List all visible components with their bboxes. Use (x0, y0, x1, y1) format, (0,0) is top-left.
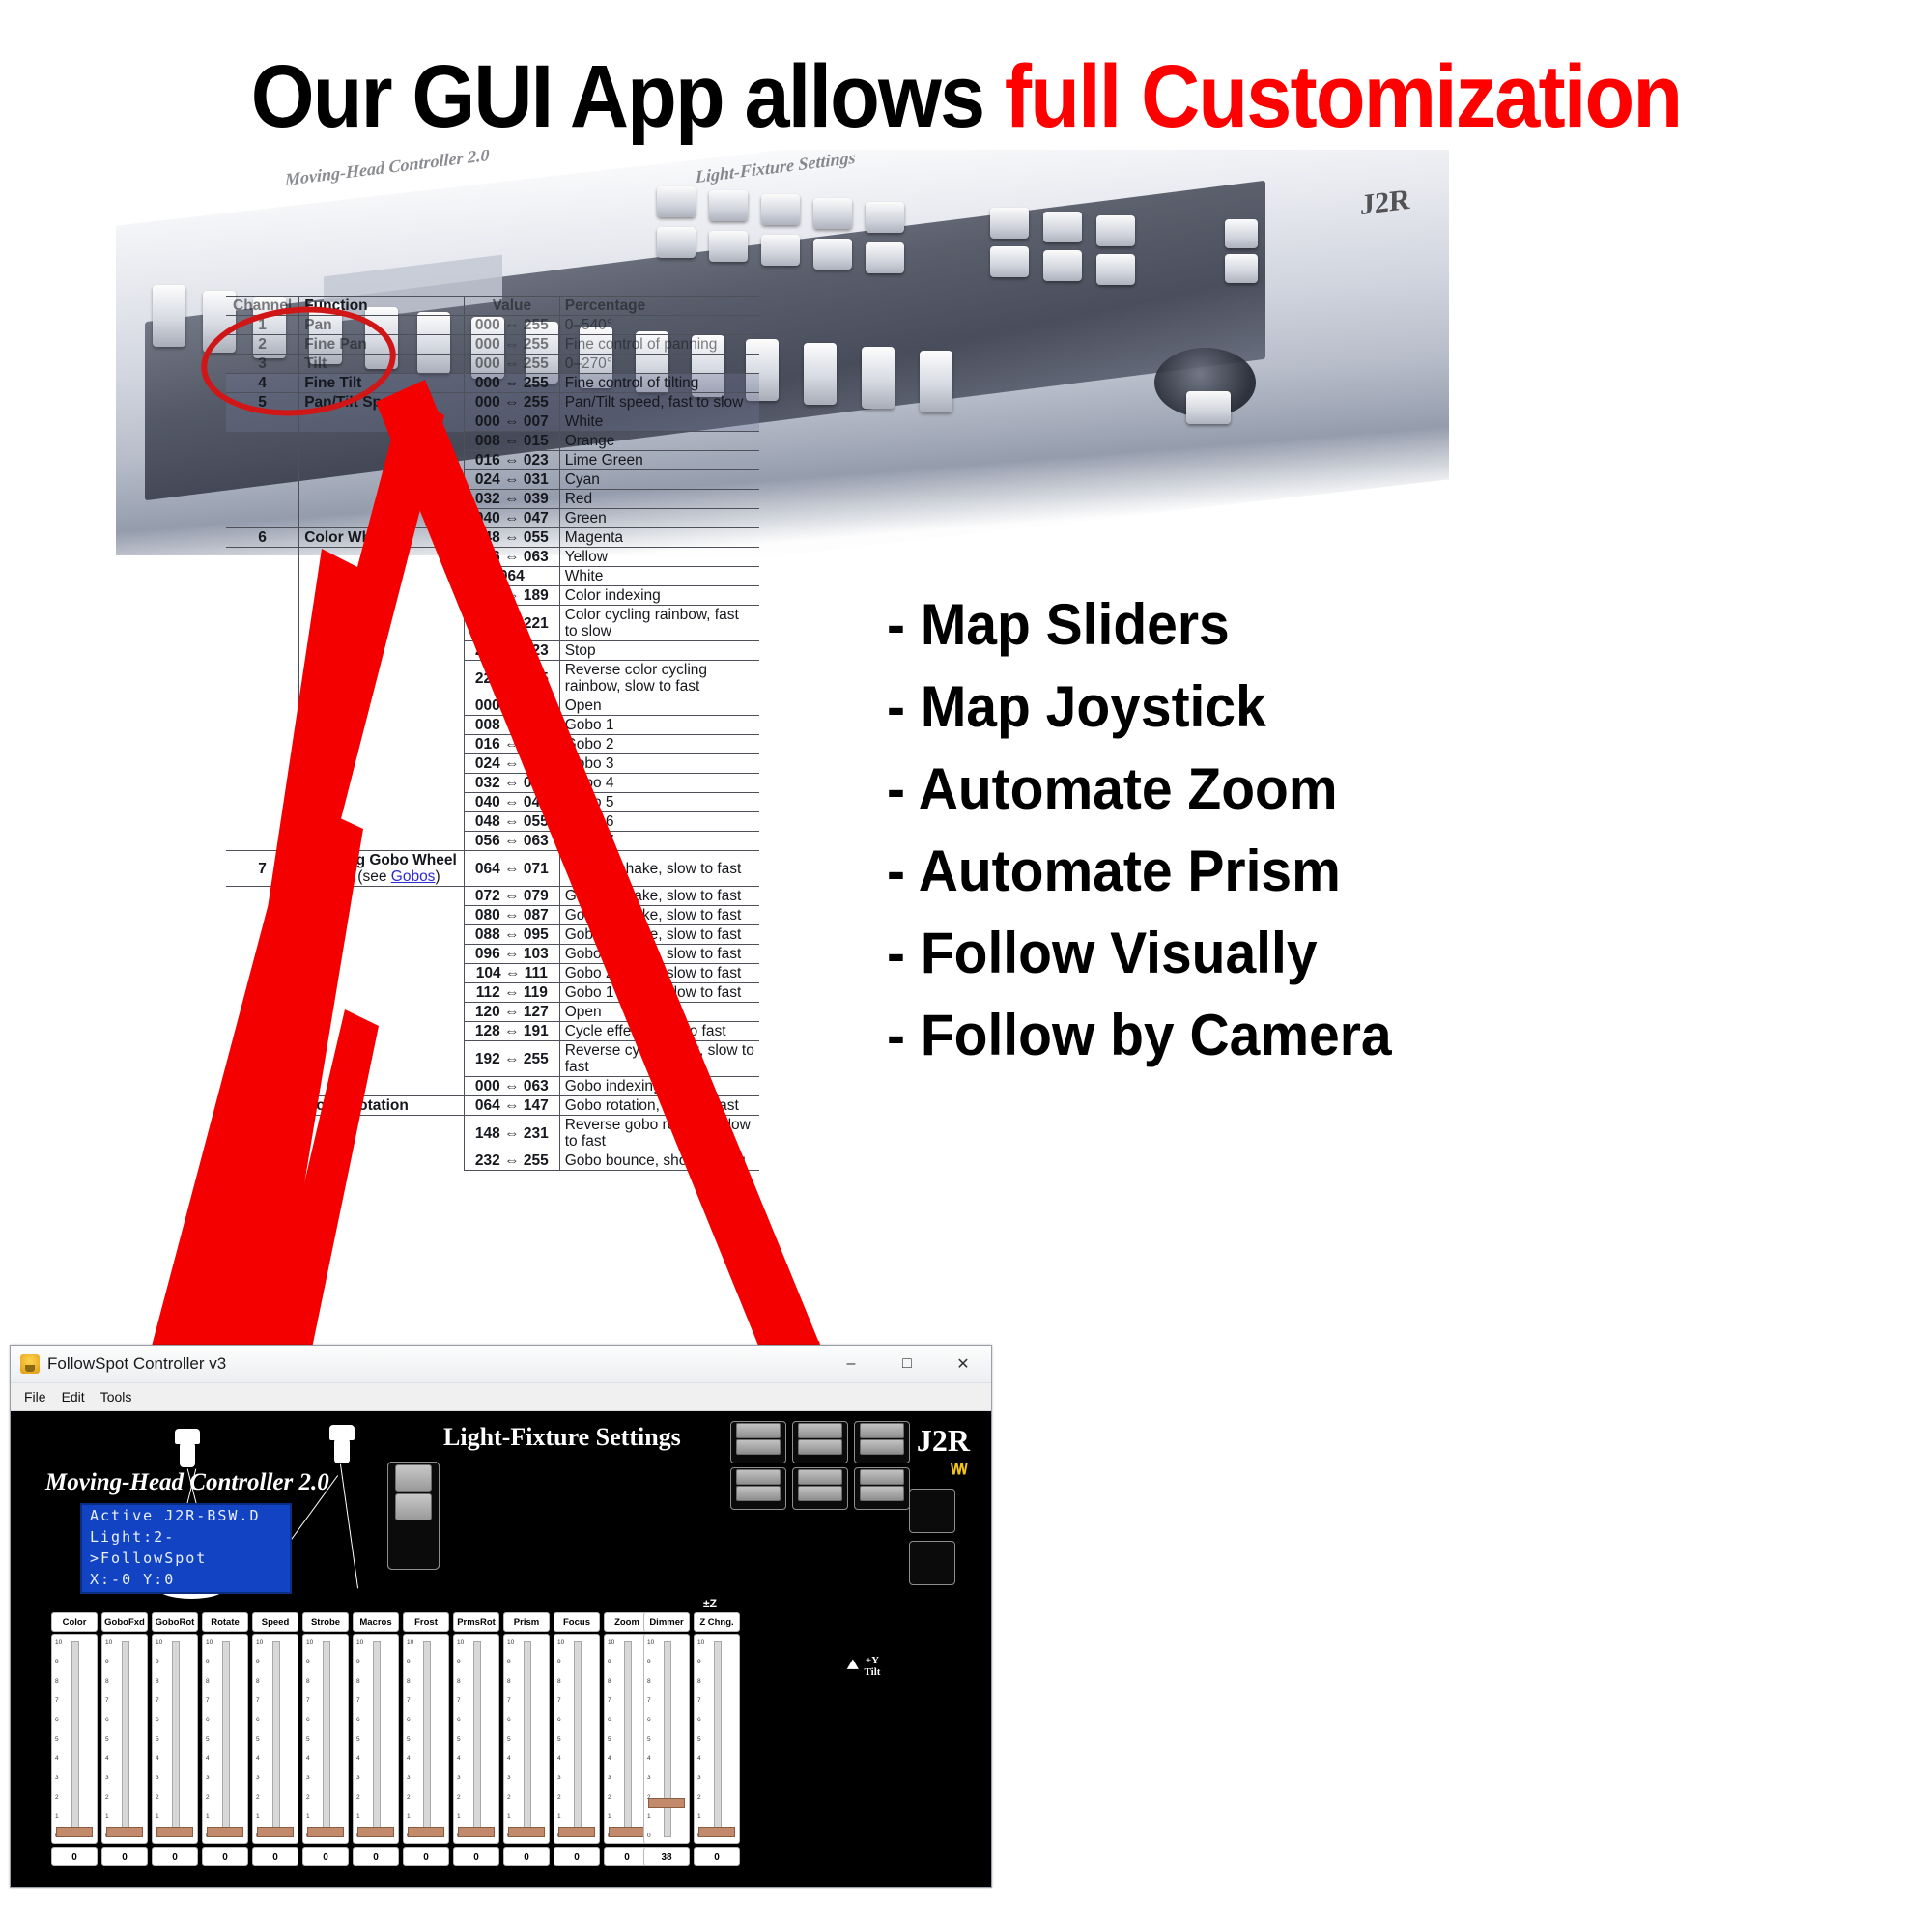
joystick-label-up: +YTilt (853, 1655, 892, 1678)
slider-track[interactable]: 109876543210 (302, 1634, 349, 1844)
cell-function (299, 412, 465, 432)
table-row: 096 ⇔ 103Gobo 3 shake, slow to fast (226, 945, 759, 964)
cell-value: 040 ⇔ 047 (465, 793, 560, 812)
table-row: 000 ⇔ 063Gobo indexing (226, 1077, 759, 1096)
slider-macros[interactable]: Macros1098765432100 (353, 1612, 399, 1866)
show-card-5[interactable] (792, 1467, 848, 1510)
cell-value: 016 ⇔ 023 (465, 451, 560, 470)
cell-value: 024 ⇔ 031 (465, 754, 560, 774)
cell-channel (226, 1116, 299, 1151)
cell-channel (226, 696, 299, 716)
table-row: 056 ⇔ 063Yellow (226, 548, 759, 567)
cell-channel (226, 945, 299, 964)
cell-value: 222 ⇔ 223 (465, 641, 560, 661)
cell-percentage: Gobo 3 (559, 754, 759, 774)
cell-percentage: Gobo 6 shake, slow to fast (559, 887, 759, 906)
aux-cards[interactable] (909, 1489, 955, 1585)
cell-value: 148 ⇔ 231 (465, 1116, 560, 1151)
slider-track[interactable]: 109876543210 (51, 1634, 98, 1844)
dmx-channel-table: ChannelFunctionValuePercentage1Pan000 ⇔ … (226, 296, 759, 1171)
cell-function (299, 451, 465, 470)
slider-label: Dimmer (643, 1612, 690, 1632)
dimmer-slider-z-chng-[interactable]: Z Chng.1098765432100 (694, 1612, 740, 1866)
slider-rail (122, 1641, 129, 1837)
slider-value: 0 (152, 1847, 198, 1866)
cell-channel (226, 509, 299, 528)
cell-percentage: Gobo bounce, short to long (559, 1151, 759, 1171)
cell-percentage: Cyan (559, 470, 759, 490)
slider-value: 0 (51, 1847, 98, 1866)
stage-title: Moving-Head Controller 2.0 (45, 1469, 329, 1496)
slider-track[interactable]: 109876543210 (453, 1634, 499, 1844)
cell-percentage: Yellow (559, 548, 759, 567)
cell-value: 048 ⇔ 055 (465, 528, 560, 548)
table-row: 222 ⇔ 223Stop (226, 641, 759, 661)
cell-percentage: Reverse cycle effect, slow to fast (559, 1041, 759, 1077)
cell-channel (226, 983, 299, 1003)
show-card-count[interactable] (798, 1439, 842, 1455)
lcd-line-1: Active J2R-BSW.D (82, 1505, 290, 1526)
slider-label: Strobe (302, 1612, 349, 1632)
table-row: 048 ⇔ 055Gobo 6 (226, 812, 759, 832)
cell-channel (226, 887, 299, 906)
slider-track[interactable]: 109876543210 (101, 1634, 148, 1844)
cell-percentage: Fine control of tilting (559, 374, 759, 393)
cell-function (299, 470, 465, 490)
slider-value: 0 (453, 1847, 499, 1866)
slider-track[interactable]: 109876543210 (643, 1634, 690, 1844)
moving-head-body-2 (334, 1438, 350, 1463)
slider-value: 0 (202, 1847, 248, 1866)
slider-value: 0 (554, 1847, 600, 1866)
slider-value: 38 (643, 1847, 690, 1866)
cell-function (299, 661, 465, 696)
cell-percentage: Gobo 2 shake, slow to fast (559, 964, 759, 983)
cell-value: 064 ⇔ 071 (465, 851, 560, 887)
cell-function (299, 548, 465, 567)
gobos-link[interactable]: Gobos (391, 868, 436, 885)
cell-value: 040 ⇔ 047 (465, 509, 560, 528)
cell-percentage: Pan/Tilt speed, fast to slow (559, 393, 759, 412)
cell-value: 000 ⇔ 255 (465, 355, 560, 374)
slider-knob[interactable] (106, 1827, 143, 1837)
slider-ticks: 109876543210 (507, 1639, 519, 1839)
slider-rail (172, 1641, 180, 1837)
cell-channel (226, 1022, 299, 1041)
show-card-count[interactable] (860, 1486, 904, 1501)
slider-rail (272, 1641, 280, 1837)
menu-item-tools[interactable]: Tools (100, 1389, 132, 1405)
cell-value: 120 ⇔ 127 (465, 1003, 560, 1022)
cell-percentage: Green (559, 509, 759, 528)
cell-function (299, 735, 465, 754)
slider-rail (574, 1641, 582, 1837)
slider-rail (624, 1641, 632, 1837)
slider-gobofxd[interactable]: GoboFxd1098765432100 (101, 1612, 148, 1866)
cell-channel (226, 1041, 299, 1077)
cell-value: 016 ⇔ 023 (465, 735, 560, 754)
show-card-state-button[interactable] (860, 1423, 904, 1438)
page-title-red: full Customization (1005, 47, 1681, 146)
cell-value: 000 ⇔ 255 (465, 374, 560, 393)
minimize-button[interactable]: – (823, 1346, 879, 1382)
cell-percentage: Reverse color cycling rainbow, slow to f… (559, 661, 759, 696)
feature-bullet-4: - Follow Visually (887, 912, 1529, 994)
light-card-select-button[interactable] (395, 1493, 432, 1520)
show-card-1[interactable] (730, 1421, 786, 1463)
cell-value: 192 ⇔ 255 (465, 1041, 560, 1077)
feature-bullet-0: - Map Sliders (887, 583, 1529, 666)
slider-speed[interactable]: Speed1098765432100 (252, 1612, 298, 1866)
cell-channel (226, 1077, 299, 1096)
cell-percentage: Gobo 5 shake, slow to fast (559, 906, 759, 925)
cell-function (299, 606, 465, 641)
table-row: 024 ⇔ 031Gobo 3 (226, 754, 759, 774)
cell-value: 000 ⇔ 255 (465, 316, 560, 335)
cell-function (299, 812, 465, 832)
slider-knob[interactable] (458, 1827, 495, 1837)
slider-rail (473, 1641, 481, 1837)
cell-percentage: Lime Green (559, 451, 759, 470)
cell-value: 008 ⇔ 015 (465, 716, 560, 735)
app-icon (20, 1354, 40, 1374)
cell-value: 190 ⇔ 221 (465, 606, 560, 641)
col-header-value: Value (465, 297, 560, 316)
cell-channel (226, 716, 299, 735)
cell-function (299, 716, 465, 735)
slider-rail (423, 1641, 431, 1837)
slider-track[interactable]: 109876543210 (252, 1634, 298, 1844)
app-brand-logo: J2R (917, 1423, 970, 1459)
feature-bullet-5: - Follow by Camera (887, 994, 1529, 1076)
slider-color[interactable]: Color1098765432100 (51, 1612, 98, 1866)
cell-channel (226, 735, 299, 754)
cell-function (299, 793, 465, 812)
table-row: 008 ⇔ 015Gobo 1 (226, 716, 759, 735)
slider-prism[interactable]: Prism1098765432100 (503, 1612, 550, 1866)
slider-ticks: 109876543210 (356, 1639, 368, 1839)
show-card-count[interactable] (860, 1439, 904, 1455)
show-card-count[interactable] (736, 1486, 781, 1501)
cell-value: 088 ⇔ 095 (465, 925, 560, 945)
cell-channel (226, 641, 299, 661)
cell-percentage: Gobo 4 shake, slow to fast (559, 925, 759, 945)
slider-knob[interactable] (257, 1827, 294, 1837)
cell-percentage: Color indexing (559, 586, 759, 606)
slider-label: Prism (503, 1612, 550, 1632)
cell-channel (226, 567, 299, 586)
table-row: 040 ⇔ 047Gobo 5 (226, 793, 759, 812)
slider-ticks: 109876543210 (557, 1639, 569, 1839)
slider-prmsrot[interactable]: PrmsRot1098765432100 (453, 1612, 499, 1866)
cell-channel (226, 964, 299, 983)
lcd-line-2: Light:2->FollowSpot (82, 1526, 290, 1569)
cell-function (299, 754, 465, 774)
slider-knob[interactable] (648, 1798, 685, 1808)
slider-focus[interactable]: Focus1098765432100 (554, 1612, 600, 1866)
cell-function (299, 1003, 465, 1022)
show-card-state-button[interactable] (736, 1423, 781, 1438)
slider-rail (323, 1641, 330, 1837)
show-card-state-button[interactable] (798, 1423, 842, 1438)
cell-percentage: Color cycling rainbow, fast to slow (559, 606, 759, 641)
slider-ticks: 109876543210 (647, 1639, 659, 1839)
cell-value: 072 ⇔ 079 (465, 887, 560, 906)
slider-value: 0 (252, 1847, 298, 1866)
cell-value: 232 ⇔ 255 (465, 1151, 560, 1171)
show-card-2[interactable] (792, 1421, 848, 1463)
slider-knob[interactable] (609, 1827, 645, 1837)
slider-track[interactable]: 109876543210 (694, 1634, 740, 1844)
slider-label: Frost (403, 1612, 449, 1632)
slider-knob[interactable] (408, 1827, 444, 1837)
table-row: 232 ⇔ 255Gobo bounce, short to long (226, 1151, 759, 1171)
cell-function (299, 964, 465, 983)
cell-channel (226, 793, 299, 812)
slider-label: Speed (252, 1612, 298, 1632)
cell-channel (226, 586, 299, 606)
cell-value: 064 (465, 567, 560, 586)
cell-percentage: 0–270° (559, 355, 759, 374)
slider-track[interactable]: 109876543210 (503, 1634, 550, 1844)
slider-label: Z Chng. (694, 1612, 740, 1632)
table-row: 120 ⇔ 127Open (226, 1003, 759, 1022)
cell-value: 056 ⇔ 063 (465, 832, 560, 851)
table-row: 104 ⇔ 111Gobo 2 shake, slow to fast (226, 964, 759, 983)
cell-function (299, 490, 465, 509)
slider-strobe[interactable]: Strobe1098765432100 (302, 1612, 349, 1866)
cell-function (299, 641, 465, 661)
slider-track[interactable]: 109876543210 (403, 1634, 449, 1844)
close-button[interactable]: ✕ (935, 1346, 991, 1382)
slider-knob[interactable] (357, 1827, 394, 1837)
table-row: 6Color Wheel048 ⇔ 055Magenta (226, 528, 759, 548)
table-row: 192 ⇔ 255Reverse cycle effect, slow to f… (226, 1041, 759, 1077)
slider-label: Rotate (202, 1612, 248, 1632)
slider-value: 0 (694, 1847, 740, 1866)
table-row: 080 ⇔ 087Gobo 5 shake, slow to fast (226, 906, 759, 925)
cell-value: 032 ⇔ 039 (465, 774, 560, 793)
cell-percentage: Gobo 7 shake, slow to fast (559, 851, 759, 887)
table-row: 7Rotating Gobo Wheel(Gobo) (see Gobos)06… (226, 851, 759, 887)
cell-channel (226, 832, 299, 851)
cell-channel: 6 (226, 528, 299, 548)
cell-function (299, 832, 465, 851)
slider-knob[interactable] (207, 1827, 243, 1837)
light-card-power-button[interactable] (395, 1464, 432, 1492)
feature-bullet-2: - Automate Zoom (887, 748, 1529, 830)
cell-function (299, 945, 465, 964)
slider-ticks: 109876543210 (306, 1639, 318, 1839)
cell-channel (226, 754, 299, 774)
slider-knob[interactable] (508, 1827, 545, 1837)
cell-percentage: Open (559, 1003, 759, 1022)
slider-knob[interactable] (558, 1827, 595, 1837)
cell-channel (226, 606, 299, 641)
cell-function (299, 432, 465, 451)
show-card-state-button[interactable] (860, 1469, 904, 1485)
cell-function (299, 509, 465, 528)
table-row: 064White (226, 567, 759, 586)
show-card-count[interactable] (736, 1439, 781, 1455)
cell-percentage: 0–540° (559, 316, 759, 335)
maximize-button[interactable]: □ (879, 1346, 935, 1382)
cell-channel (226, 1151, 299, 1171)
cell-function (299, 983, 465, 1003)
slider-ticks: 109876543210 (457, 1639, 469, 1839)
slider-rail (71, 1641, 79, 1837)
table-row: 128 ⇔ 191Cycle effect, slow to fast (226, 1022, 759, 1041)
cell-function (299, 586, 465, 606)
table-row: 032 ⇔ 039Gobo 4 (226, 774, 759, 793)
table-row: 224 ⇔ 255Reverse color cycling rainbow, … (226, 661, 759, 696)
cell-value: 080 ⇔ 087 (465, 906, 560, 925)
cell-percentage: White (559, 412, 759, 432)
col-header-percentage: Percentage (559, 297, 759, 316)
table-row: 072 ⇔ 079Gobo 6 shake, slow to fast (226, 887, 759, 906)
cell-value: 104 ⇔ 111 (465, 964, 560, 983)
slider-knob[interactable] (156, 1827, 193, 1837)
cell-channel (226, 548, 299, 567)
cell-percentage: Gobo 4 (559, 774, 759, 793)
cell-channel (226, 774, 299, 793)
slider-track[interactable]: 109876543210 (152, 1634, 198, 1844)
cell-value: 064 ⇔ 147 (465, 1096, 560, 1116)
cell-channel (226, 906, 299, 925)
cell-value: 032 ⇔ 039 (465, 490, 560, 509)
aux-card-2[interactable] (909, 1541, 955, 1585)
table-row: 040 ⇔ 047Green (226, 509, 759, 528)
slider-frost[interactable]: Frost1098765432100 (403, 1612, 449, 1866)
cell-value: 024 ⇔ 031 (465, 470, 560, 490)
z-axis-label: ±Z (703, 1597, 717, 1610)
cell-function (299, 925, 465, 945)
brand-wave-icon: \/\/\/ (951, 1460, 966, 1479)
window-titlebar: FollowSpot Controller v3 – □ ✕ (11, 1346, 991, 1383)
slider-knob[interactable] (307, 1827, 344, 1837)
cell-value: 000 ⇔ 255 (465, 393, 560, 412)
cell-function (299, 1151, 465, 1171)
show-card-state-button[interactable] (736, 1469, 781, 1485)
feature-bullet-3: - Automate Prism (887, 830, 1529, 912)
cell-percentage: White (559, 567, 759, 586)
cell-percentage: Gobo 2 (559, 735, 759, 754)
menu-item-file[interactable]: File (24, 1389, 46, 1405)
photo-deck-label: Moving-Head Controller 2.0 (285, 150, 490, 190)
cell-value: 008 ⇔ 015 (465, 432, 560, 451)
table-row: 088 ⇔ 095Gobo 4 shake, slow to fast (226, 925, 759, 945)
cell-percentage: Gobo 1 (559, 716, 759, 735)
slider-rail (714, 1641, 722, 1837)
slider-value: 0 (503, 1847, 550, 1866)
photo-brand-logo: J2R (1360, 184, 1410, 222)
cell-value: 224 ⇔ 255 (465, 661, 560, 696)
cell-value: 128 ⇔ 191 (465, 1022, 560, 1041)
cell-percentage: Gobo 7 (559, 832, 759, 851)
slider-goborot[interactable]: GoboRot1098765432100 (152, 1612, 198, 1866)
cell-channel (226, 925, 299, 945)
table-row: 112 ⇔ 119Gobo 1 shake, slow to fast (226, 983, 759, 1003)
dimmer-slider-dimmer[interactable]: Dimmer10987654321038 (643, 1612, 690, 1866)
cell-channel (226, 1096, 299, 1116)
aux-card-1[interactable] (909, 1489, 955, 1533)
feature-bullet-1: - Map Joystick (887, 666, 1529, 748)
cell-percentage: Gobo 5 (559, 793, 759, 812)
cell-percentage: Open (559, 696, 759, 716)
show-card-6[interactable] (854, 1467, 910, 1510)
light-fixture-settings-title: Light-Fixture Settings (443, 1423, 681, 1452)
show-cards[interactable] (730, 1421, 912, 1510)
show-card-count[interactable] (798, 1486, 842, 1501)
slider-rotate[interactable]: Rotate1098765432100 (202, 1612, 248, 1866)
cell-percentage: Magenta (559, 528, 759, 548)
slider-bank[interactable]: Color1098765432100GoboFxd1098765432100Go… (51, 1612, 650, 1866)
show-card-state-button[interactable] (798, 1469, 842, 1485)
slider-rail (373, 1641, 381, 1837)
slider-label: PrmsRot (453, 1612, 499, 1632)
cell-percentage: Fine control of panning (559, 335, 759, 355)
light-beam-right-2 (340, 1464, 358, 1589)
slider-rail (222, 1641, 230, 1837)
light-fixture-card-6[interactable] (387, 1462, 440, 1570)
slider-value: 0 (353, 1847, 399, 1866)
cell-percentage: Orange (559, 432, 759, 451)
slider-knob[interactable] (56, 1827, 93, 1837)
cell-function (299, 696, 465, 716)
menu-item-edit[interactable]: Edit (62, 1389, 85, 1405)
slider-ticks: 109876543210 (407, 1639, 418, 1839)
cell-value: 000 ⇔ 007 (465, 696, 560, 716)
slider-label: Color (51, 1612, 98, 1632)
table-row: 024 ⇔ 031Cyan (226, 470, 759, 490)
lcd-line-4: X:-0 Y:0 (82, 1569, 290, 1590)
cell-function (299, 567, 465, 586)
cell-function: Gobo Rotation (299, 1096, 465, 1116)
slider-value: 0 (302, 1847, 349, 1866)
table-row: Gobo Rotation064 ⇔ 147Gobo rotation, slo… (226, 1096, 759, 1116)
followspot-controller-window[interactable]: FollowSpot Controller v3 – □ ✕ File Edit… (10, 1345, 992, 1888)
slider-ticks: 109876543210 (256, 1639, 268, 1839)
controller-canvas[interactable]: Moving-Head Controller 2.0 Active J2R-BS… (11, 1411, 991, 1887)
slider-label: Focus (554, 1612, 600, 1632)
slider-label: Macros (353, 1612, 399, 1632)
show-card-3[interactable] (854, 1421, 910, 1463)
cell-channel (226, 812, 299, 832)
cell-percentage: Red (559, 490, 759, 509)
table-row: 148 ⇔ 231Reverse gobo rotation, slow to … (226, 1116, 759, 1151)
cell-function (299, 1116, 465, 1151)
table-row: 190 ⇔ 221Color cycling rainbow, fast to … (226, 606, 759, 641)
slider-track[interactable]: 109876543210 (202, 1634, 248, 1844)
lcd-display: Active J2R-BSW.D Light:2->FollowSpot X:-… (80, 1503, 292, 1594)
window-controls[interactable]: – □ ✕ (823, 1346, 991, 1382)
cell-percentage: Gobo 6 (559, 812, 759, 832)
slider-ticks: 109876543210 (206, 1639, 217, 1839)
slider-track[interactable]: 109876543210 (353, 1634, 399, 1844)
show-card-4[interactable] (730, 1467, 786, 1510)
slider-ticks: 109876543210 (105, 1639, 117, 1839)
cell-value: 112 ⇔ 119 (465, 983, 560, 1003)
feature-bullet-list: - Map Sliders- Map Joystick- Automate Zo… (848, 583, 1563, 1076)
cell-function (299, 1041, 465, 1077)
menu-bar[interactable]: File Edit Tools (11, 1383, 991, 1411)
cell-function (299, 906, 465, 925)
moving-head-body (180, 1442, 195, 1467)
slider-knob[interactable] (698, 1827, 735, 1837)
cell-percentage: Gobo rotation, slow to fast (559, 1096, 759, 1116)
slider-track[interactable]: 109876543210 (554, 1634, 600, 1844)
dimmer-slider-bank[interactable]: ±ZDimmer10987654321038Z Chng.10987654321… (643, 1612, 740, 1866)
